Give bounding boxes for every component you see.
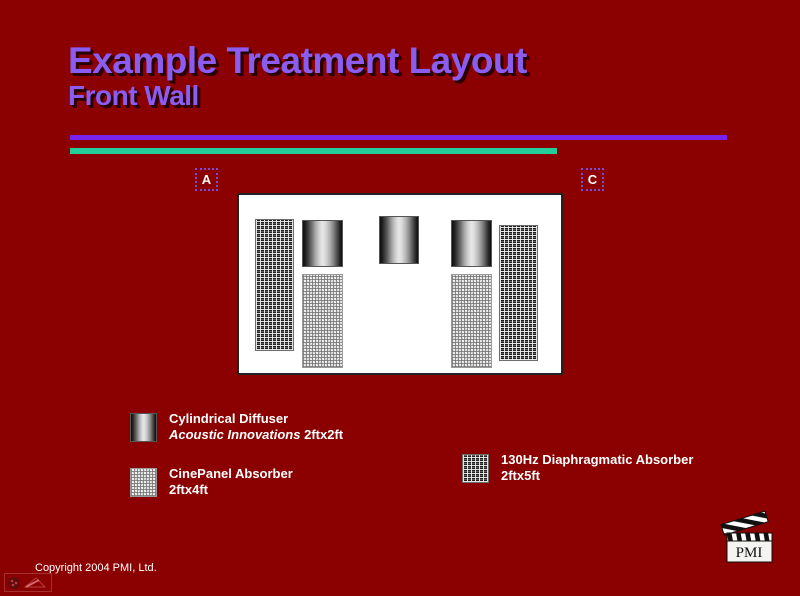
title-main-line: Example Treatment Layout [68,42,748,80]
unit-right-diaphragmatic-absorber [499,225,538,361]
front-wall-diagram [237,193,563,375]
wall-label-a: A [195,168,218,191]
legend-diffuser-detail: Acoustic Innovations 2ftx2ft [169,427,343,443]
legend-cinepanel-size: 2ftx4ft [169,482,293,498]
slide-canvas: Example Treatment Layout Front Wall A C … [0,0,800,595]
pmi-clapperboard-logo: PMI [718,508,780,564]
unit-center-cylindrical-diffuser [379,216,419,264]
wall-label-c: C [581,168,604,191]
legend-text-cylindrical-diffuser: Cylindrical Diffuser Acoustic Innovation… [169,411,343,444]
copyright-text: Copyright 2004 PMI, Ltd. [35,562,157,574]
unit-left-cylindrical-diffuser [302,220,343,267]
unit-right-cinepanel-absorber [451,274,492,368]
page-title: Example Treatment Layout Front Wall [68,42,748,110]
unit-left-cinepanel-absorber [302,274,343,368]
legend-diffuser-size: 2ftx2ft [304,427,343,442]
legend-diaphragm-size: 2ftx5ft [501,468,693,484]
legend-swatch-cylindrical-diffuser [130,413,157,442]
legend-diffuser-brand: Acoustic Innovations [169,427,300,442]
title-sub-line: Front Wall [68,82,748,111]
corner-watermark-icon [4,573,52,592]
unit-left-diaphragmatic-absorber [255,219,294,351]
legend-text-diaphragmatic-absorber: 130Hz Diaphragmatic Absorber 2ftx5ft [501,452,693,485]
pmi-logo-text: PMI [736,545,763,561]
divider-rule-purple [70,135,727,140]
legend-diaphragm-title: 130Hz Diaphragmatic Absorber [501,452,693,468]
clapperboard-icon: PMI [718,508,780,564]
divider-rule-green [70,148,557,154]
legend-text-cinepanel-absorber: CinePanel Absorber 2ftx4ft [169,466,293,499]
legend-cinepanel-title: CinePanel Absorber [169,466,293,482]
unit-right-cylindrical-diffuser [451,220,492,267]
legend-diffuser-title: Cylindrical Diffuser [169,411,343,427]
legend-swatch-cinepanel-absorber [130,468,157,497]
legend-swatch-diaphragmatic-absorber [462,454,489,483]
corner-watermark-glyph [5,574,51,591]
